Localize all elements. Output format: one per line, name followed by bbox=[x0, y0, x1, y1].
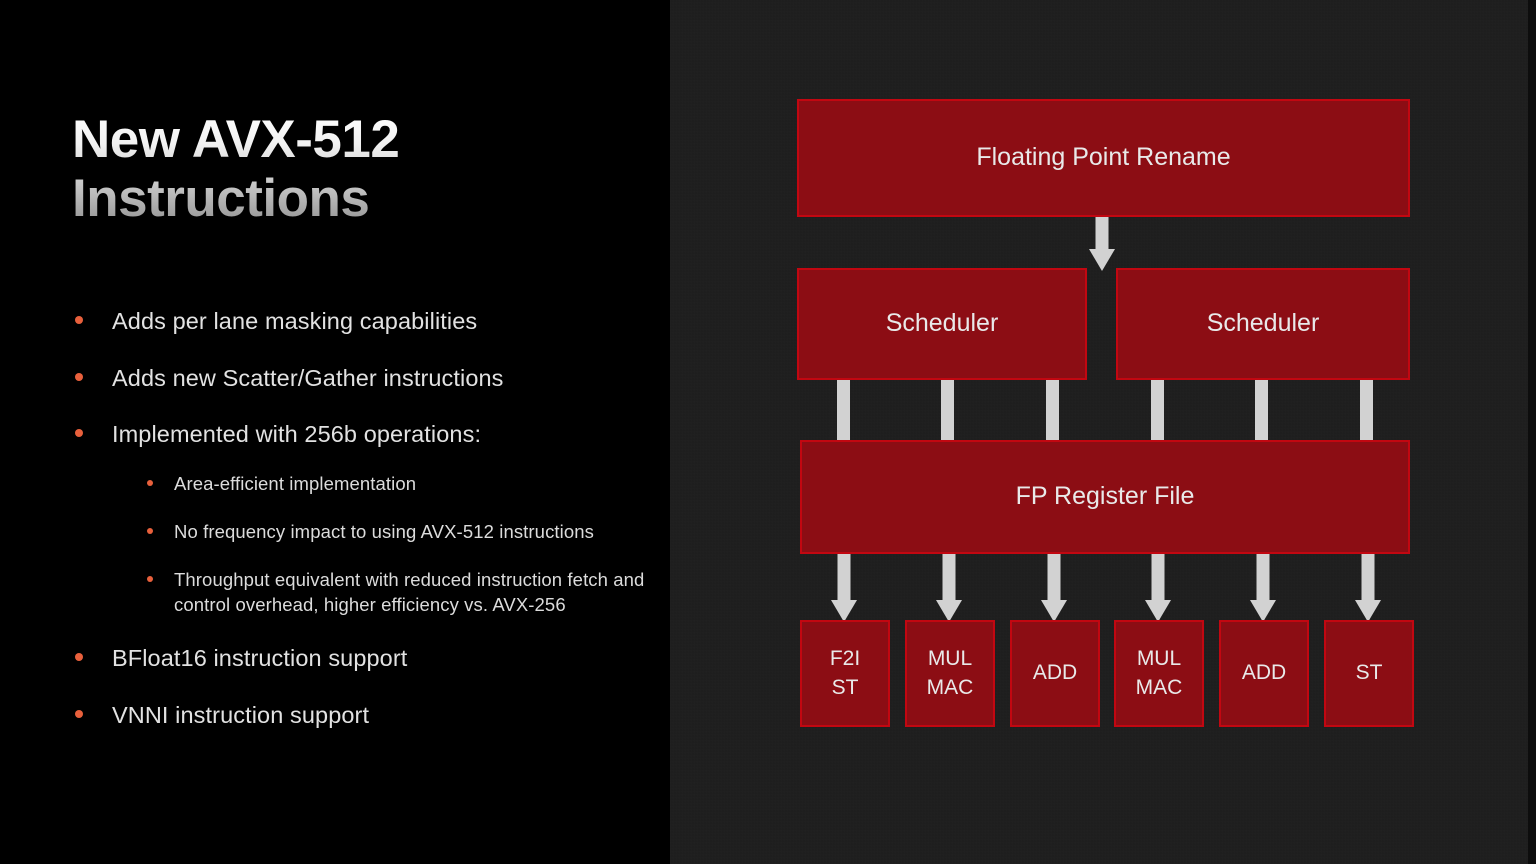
bullet-item: Adds new Scatter/Gather instructions bbox=[68, 363, 678, 394]
bullet-dot-icon bbox=[147, 480, 153, 486]
bullet-item: VNNI instruction support bbox=[68, 700, 678, 731]
diagram-node-exec-unit-0: F2I ST bbox=[800, 620, 890, 727]
connector-bar bbox=[1360, 380, 1373, 444]
arrow-to-exec-unit bbox=[1355, 554, 1381, 622]
diagram-node-scheduler-right: Scheduler bbox=[1116, 268, 1410, 380]
bullet-text: VNNI instruction support bbox=[112, 702, 369, 728]
bullet-dot-icon bbox=[147, 576, 153, 582]
sub-bullet-list: Area-efficient implementation No frequen… bbox=[112, 472, 678, 618]
diagram-node-exec-unit-2: ADD bbox=[1010, 620, 1100, 727]
bullet-dot-icon bbox=[147, 528, 153, 534]
bullet-list: Adds per lane masking capabilities Adds … bbox=[68, 306, 678, 756]
connector-bar bbox=[837, 380, 850, 444]
diagram-node-scheduler-left: Scheduler bbox=[797, 268, 1087, 380]
connector-bar bbox=[941, 380, 954, 444]
bullet-text: Implemented with 256b operations: bbox=[112, 421, 481, 447]
bullet-dot-icon bbox=[75, 373, 83, 381]
sub-bullet-text: No frequency impact to using AVX-512 ins… bbox=[174, 521, 594, 542]
bullet-dot-icon bbox=[75, 429, 83, 437]
diagram-node-exec-unit-1: MUL MAC bbox=[905, 620, 995, 727]
diagram-pane: Floating Point Rename Scheduler Schedule… bbox=[670, 0, 1528, 864]
diagram-node-exec-unit-3: MUL MAC bbox=[1114, 620, 1204, 727]
diagram-node-exec-unit-5: ST bbox=[1324, 620, 1414, 727]
sub-bullet-item: Throughput equivalent with reduced instr… bbox=[138, 568, 678, 617]
bullet-text: Adds new Scatter/Gather instructions bbox=[112, 365, 504, 391]
connector-bar bbox=[1255, 380, 1268, 444]
bullet-text: BFloat16 instruction support bbox=[112, 645, 407, 671]
bullet-dot-icon bbox=[75, 710, 83, 718]
bullet-dot-icon bbox=[75, 316, 83, 324]
sub-bullet-text: Area-efficient implementation bbox=[174, 473, 416, 494]
arrow-rename-to-scheduler bbox=[1089, 217, 1115, 271]
sub-bullet-item: No frequency impact to using AVX-512 ins… bbox=[138, 520, 678, 544]
diagram-node-floating-point-rename: Floating Point Rename bbox=[797, 99, 1410, 217]
page-title: New AVX-512 Instructions bbox=[72, 110, 632, 229]
bullet-item: Adds per lane masking capabilities bbox=[68, 306, 678, 337]
arrow-to-exec-unit bbox=[831, 554, 857, 622]
diagram-node-fp-register-file: FP Register File bbox=[800, 440, 1410, 554]
arrow-to-exec-unit bbox=[936, 554, 962, 622]
sub-bullet-text: Throughput equivalent with reduced instr… bbox=[174, 569, 644, 614]
slide-root: New AVX-512 Instructions Adds per lane m… bbox=[0, 0, 1536, 864]
arrow-to-exec-unit bbox=[1145, 554, 1171, 622]
bullet-text: Adds per lane masking capabilities bbox=[112, 308, 477, 334]
connector-bar bbox=[1046, 380, 1059, 444]
content-pane: New AVX-512 Instructions Adds per lane m… bbox=[0, 0, 670, 864]
connector-bar bbox=[1151, 380, 1164, 444]
arrow-to-exec-unit bbox=[1250, 554, 1276, 622]
pane-right-edge bbox=[1528, 0, 1536, 864]
diagram-node-exec-unit-4: ADD bbox=[1219, 620, 1309, 727]
bullet-item: Implemented with 256b operations: Area-e… bbox=[68, 419, 678, 617]
bullet-dot-icon bbox=[75, 653, 83, 661]
arrow-to-exec-unit bbox=[1041, 554, 1067, 622]
sub-bullet-item: Area-efficient implementation bbox=[138, 472, 678, 496]
bullet-item: BFloat16 instruction support bbox=[68, 643, 678, 674]
